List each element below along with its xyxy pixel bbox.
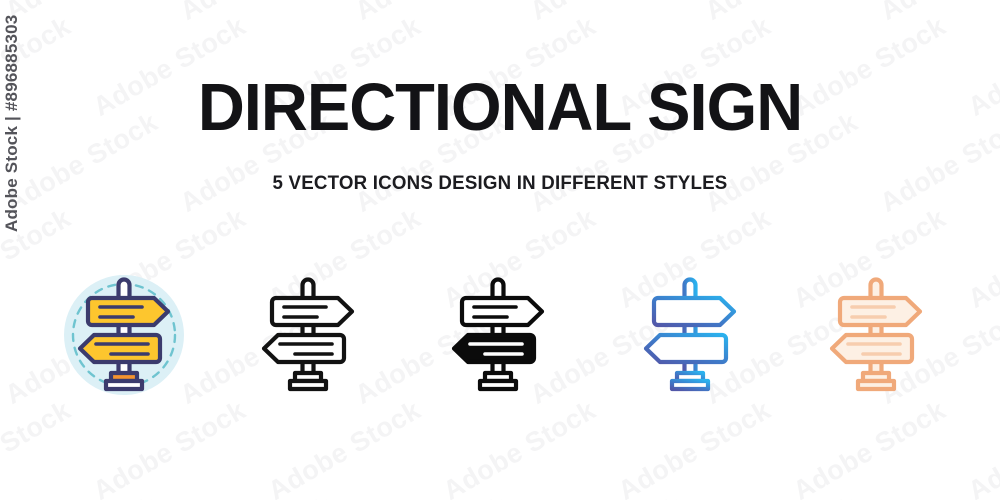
- watermark-tile: Adobe Stock: [0, 395, 76, 500]
- icon-directional-sign-gradient[interactable]: [615, 260, 765, 410]
- base-plate-shape: [480, 381, 516, 389]
- sign-post-shape: [685, 280, 696, 381]
- watermark-tile: Adobe Stock: [525, 491, 688, 500]
- icon-directional-sign-glyph[interactable]: [423, 260, 573, 410]
- adobe-stock-id-watermark: Adobe Stock | #896885303: [2, 15, 22, 232]
- watermark-tile: Adobe Stock: [700, 491, 863, 500]
- watermark-tile: Adobe Stock: [788, 395, 951, 500]
- bottom-sign-board-shape: [646, 335, 726, 362]
- bottom-sign-board-shape: [454, 335, 534, 362]
- watermark-tile: Adobe Stock: [875, 0, 1000, 27]
- watermark-tile: Adobe Stock: [963, 395, 1000, 500]
- page-title: DIRECTIONAL SIGN: [15, 72, 985, 144]
- icon-row: [0, 260, 1000, 410]
- watermark-tile: Adobe Stock: [438, 395, 601, 500]
- watermark-tile: Adobe Stock: [700, 0, 863, 27]
- watermark-tile: Adobe Stock: [875, 491, 1000, 500]
- watermark-tile: Adobe Stock: [175, 0, 338, 27]
- icon-directional-sign-flat-color[interactable]: [49, 260, 199, 410]
- bottom-sign-board-shape: [264, 335, 344, 362]
- watermark-tile: Adobe Stock: [350, 0, 513, 27]
- watermark-tile: Adobe Stock: [175, 491, 338, 500]
- watermark-tile: Adobe Stock: [0, 491, 163, 500]
- base-plate-shape: [858, 381, 894, 389]
- page-subtitle: 5 VECTOR ICONS DESIGN IN DIFFERENT STYLE…: [8, 172, 993, 196]
- base-plate-shape: [106, 381, 142, 389]
- base-plate-shape: [672, 381, 708, 389]
- watermark-tile: Adobe Stock: [613, 395, 776, 500]
- sign-post-shape: [493, 280, 504, 381]
- poster-canvas: Adobe StockAdobe StockAdobe StockAdobe S…: [0, 0, 1000, 500]
- top-sign-board-shape: [272, 298, 352, 325]
- watermark-tile: Adobe Stock: [88, 395, 251, 500]
- sign-post-shape: [871, 280, 882, 381]
- bottom-sign-board-shape: [832, 335, 912, 362]
- icon-directional-sign-soft[interactable]: [801, 260, 951, 410]
- watermark-tile: Adobe Stock: [0, 0, 163, 27]
- top-sign-board-shape: [88, 298, 168, 325]
- sign-post-shape: [119, 280, 130, 381]
- icon-directional-sign-line[interactable]: [233, 260, 383, 410]
- watermark-tile: Adobe Stock: [263, 395, 426, 500]
- top-sign-board-shape: [654, 298, 734, 325]
- watermark-tile: Adobe Stock: [350, 491, 513, 500]
- top-sign-board-shape: [462, 298, 542, 325]
- base-plate-shape: [290, 381, 326, 389]
- watermark-tile: Adobe Stock: [525, 0, 688, 27]
- sign-post-shape: [303, 280, 314, 381]
- bottom-sign-board-shape: [80, 335, 160, 362]
- top-sign-board-shape: [840, 298, 920, 325]
